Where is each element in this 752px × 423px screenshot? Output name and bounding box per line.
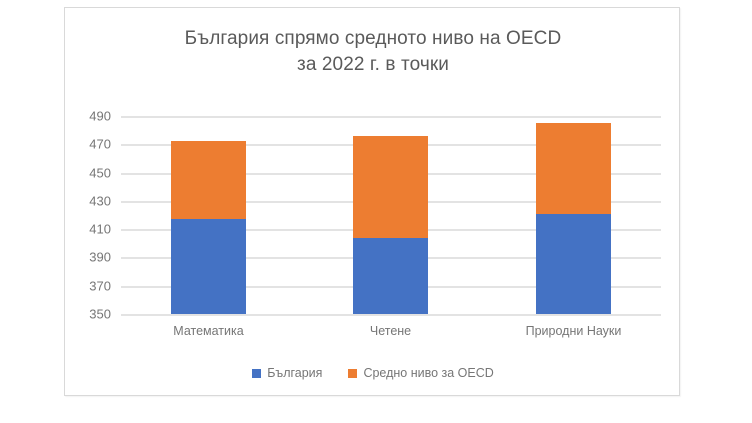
category-label-science: Природни Науки xyxy=(526,324,622,338)
ytick-label-450: 450 xyxy=(89,165,111,180)
ytick-label-490: 490 xyxy=(89,109,111,124)
legend-swatch-bulgaria xyxy=(252,369,261,378)
chart-title-line-2: за 2022 г. в точки xyxy=(65,52,681,78)
bar-segment-oecd-science[interactable] xyxy=(536,123,611,214)
gridline-350: 350 xyxy=(121,314,661,316)
bar-segment-bulgaria-math[interactable] xyxy=(171,219,246,314)
chart-title: България спрямо средното ниво на OECD за… xyxy=(65,26,681,78)
bar-segment-oecd-math[interactable] xyxy=(171,141,246,219)
legend-item-oecd[interactable]: Средно ниво за OECD xyxy=(348,366,493,380)
category-label-reading: Четене xyxy=(370,324,411,338)
ytick-label-470: 470 xyxy=(89,137,111,152)
gridline-490: 490 xyxy=(121,116,661,118)
chart-legend: България Средно ниво за OECD xyxy=(65,366,681,380)
bar-segment-oecd-reading[interactable] xyxy=(353,136,428,238)
ytick-label-350: 350 xyxy=(89,307,111,322)
legend-label-bulgaria: България xyxy=(267,366,322,380)
bar-segment-bulgaria-science[interactable] xyxy=(536,214,611,314)
legend-item-bulgaria[interactable]: България xyxy=(252,366,322,380)
ytick-label-390: 390 xyxy=(89,250,111,265)
category-label-math: Математика xyxy=(173,324,243,338)
legend-swatch-oecd xyxy=(348,369,357,378)
ytick-label-430: 430 xyxy=(89,193,111,208)
ytick-label-370: 370 xyxy=(89,278,111,293)
legend-label-oecd: Средно ниво за OECD xyxy=(363,366,493,380)
bar-segment-bulgaria-reading[interactable] xyxy=(353,238,428,314)
chart-card: България спрямо средното ниво на OECD за… xyxy=(64,7,680,396)
ytick-label-410: 410 xyxy=(89,222,111,237)
plot-area: 490 470 450 430 410 390 370 350 Математи… xyxy=(121,116,661,314)
chart-title-line-1: България спрямо средното ниво на OECD xyxy=(185,28,562,49)
